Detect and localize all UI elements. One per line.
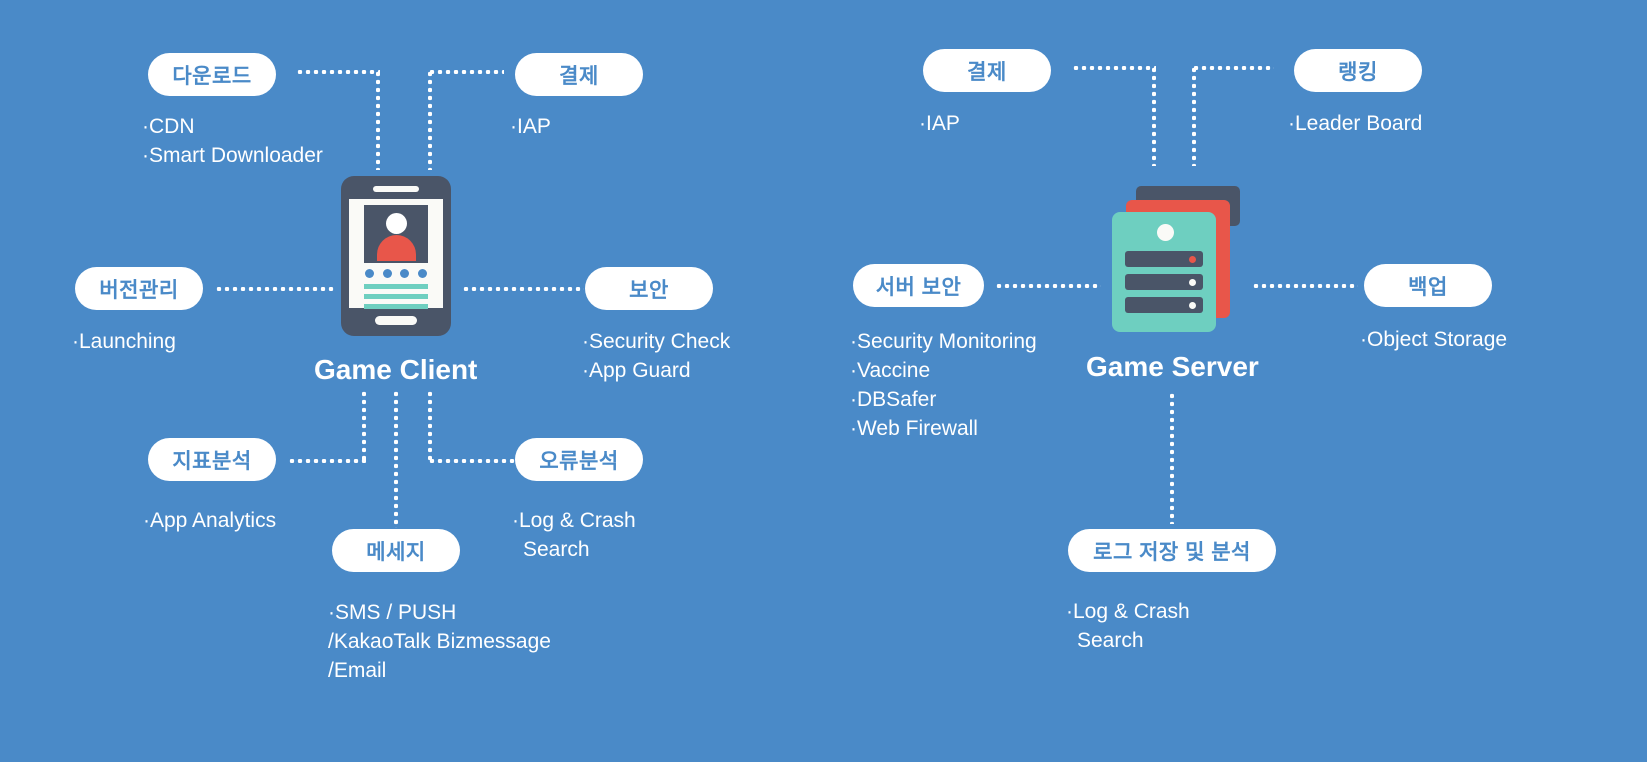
badge-payment[interactable]: 결제 [515, 53, 643, 96]
badge-download[interactable]: 다운로드 [148, 53, 276, 96]
connector-log-storage-drop [1170, 392, 1174, 524]
badge-backup[interactable]: 백업 [1364, 264, 1492, 307]
connector-message-drop [394, 390, 398, 528]
server-bay-3 [1125, 297, 1203, 313]
badge-metrics-analysis[interactable]: 지표분석 [148, 438, 276, 481]
list-payment: ·IAP [510, 112, 551, 141]
list-item: ·CDN [142, 112, 323, 141]
list-item: ·App Guard [582, 356, 730, 385]
list-item: /Email [328, 656, 551, 685]
badge-ranking[interactable]: 랭킹 [1294, 49, 1422, 92]
badge-server-security[interactable]: 서버 보안 [853, 264, 984, 307]
mobile-phone-icon [341, 176, 451, 336]
list-item: ·Leader Board [1288, 109, 1422, 138]
game-client-title: Game Client [314, 354, 477, 386]
server-bay-2 [1125, 274, 1203, 290]
server-stack-icon [1112, 186, 1240, 332]
list-item: Search [1066, 626, 1190, 655]
connector-server-payment-drop [1152, 66, 1156, 166]
list-item: ·SMS / PUSH [328, 598, 551, 627]
connector-download-drop [376, 70, 380, 170]
badge-message[interactable]: 메세지 [332, 529, 460, 572]
list-log-storage-analysis: ·Log & Crash Search [1066, 597, 1190, 655]
list-security: ·Security Check ·App Guard [582, 327, 730, 385]
server-bay-1 [1125, 251, 1203, 267]
diagram-canvas: Game Client Game Server 다운로드 ·CDN ·Smart… [0, 0, 1647, 762]
connector-security-to-client [462, 287, 584, 291]
list-item: ·Log & Crash [1066, 597, 1190, 626]
connector-server-security-to-server [995, 284, 1101, 288]
list-message: ·SMS / PUSH /KakaoTalk Bizmessage /Email [328, 598, 551, 685]
list-item: Search [512, 535, 636, 564]
phone-speaker [373, 186, 419, 192]
connector-version-to-client [215, 287, 335, 291]
list-server-payment: ·IAP [919, 109, 960, 138]
connector-payment-drop [428, 70, 432, 170]
screen-dot-row [365, 269, 427, 278]
badge-log-storage-analysis[interactable]: 로그 저장 및 분석 [1068, 529, 1276, 572]
list-version-management: ·Launching [72, 327, 176, 356]
connector-metrics-to-badge [288, 459, 366, 463]
list-item: ·Vaccine [850, 356, 1037, 385]
avatar-body [377, 235, 416, 261]
connector-ranking-to-server [1192, 66, 1274, 70]
list-item: ·Security Check [582, 327, 730, 356]
game-server-title: Game Server [1086, 351, 1259, 383]
badge-security[interactable]: 보안 [585, 267, 713, 310]
list-ranking: ·Leader Board [1288, 109, 1422, 138]
list-item: ·Object Storage [1360, 325, 1507, 354]
list-backup: ·Object Storage [1360, 325, 1507, 354]
badge-version-management[interactable]: 버전관리 [75, 267, 203, 310]
connector-error-to-badge [428, 459, 516, 463]
list-item: ·Security Monitoring [850, 327, 1037, 356]
server-card-front [1112, 212, 1216, 332]
list-item: ·Smart Downloader [142, 141, 323, 170]
connector-server-payment-to-server [1072, 66, 1156, 70]
badge-error-analysis[interactable]: 오류분석 [515, 438, 643, 481]
list-item: ·Web Firewall [850, 414, 1037, 443]
badge-server-payment[interactable]: 결제 [923, 49, 1051, 92]
screen-bar-row [364, 284, 428, 314]
phone-home-button [375, 316, 417, 325]
list-error-analysis: ·Log & Crash Search [512, 506, 636, 564]
connector-ranking-drop [1192, 66, 1196, 166]
connector-download-to-client [296, 70, 380, 74]
list-item: ·App Analytics [143, 506, 276, 535]
list-item: ·IAP [510, 112, 551, 141]
list-metrics-analysis: ·App Analytics [143, 506, 276, 535]
list-download: ·CDN ·Smart Downloader [142, 112, 323, 170]
avatar-icon [364, 205, 428, 263]
connector-payment-to-client [428, 70, 504, 74]
list-item: ·DBSafer [850, 385, 1037, 414]
list-item: ·Log & Crash [512, 506, 636, 535]
list-item: ·IAP [919, 109, 960, 138]
connector-error-drop [428, 390, 432, 462]
list-item: ·Launching [72, 327, 176, 356]
list-server-security: ·Security Monitoring ·Vaccine ·DBSafer ·… [850, 327, 1037, 443]
phone-screen [349, 199, 443, 308]
server-led [1157, 224, 1174, 241]
connector-metrics-drop [362, 390, 366, 462]
avatar-head [386, 213, 407, 234]
list-item: /KakaoTalk Bizmessage [328, 627, 551, 656]
connector-backup-to-server [1252, 284, 1358, 288]
